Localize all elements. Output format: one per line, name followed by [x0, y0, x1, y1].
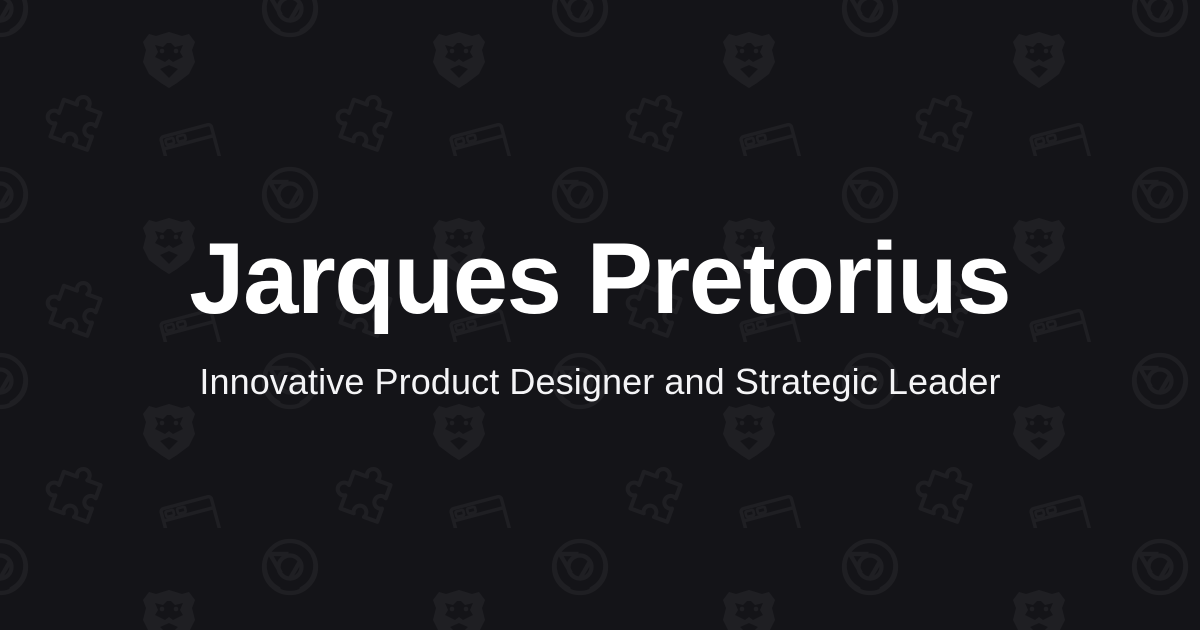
hero-content: Jarques Pretorius Innovative Product Des… [0, 0, 1200, 630]
page-title: Jarques Pretorius [190, 226, 1011, 333]
page-subtitle: Innovative Product Designer and Strategi… [199, 359, 1000, 404]
social-card: Jarques Pretorius Innovative Product Des… [0, 0, 1200, 630]
